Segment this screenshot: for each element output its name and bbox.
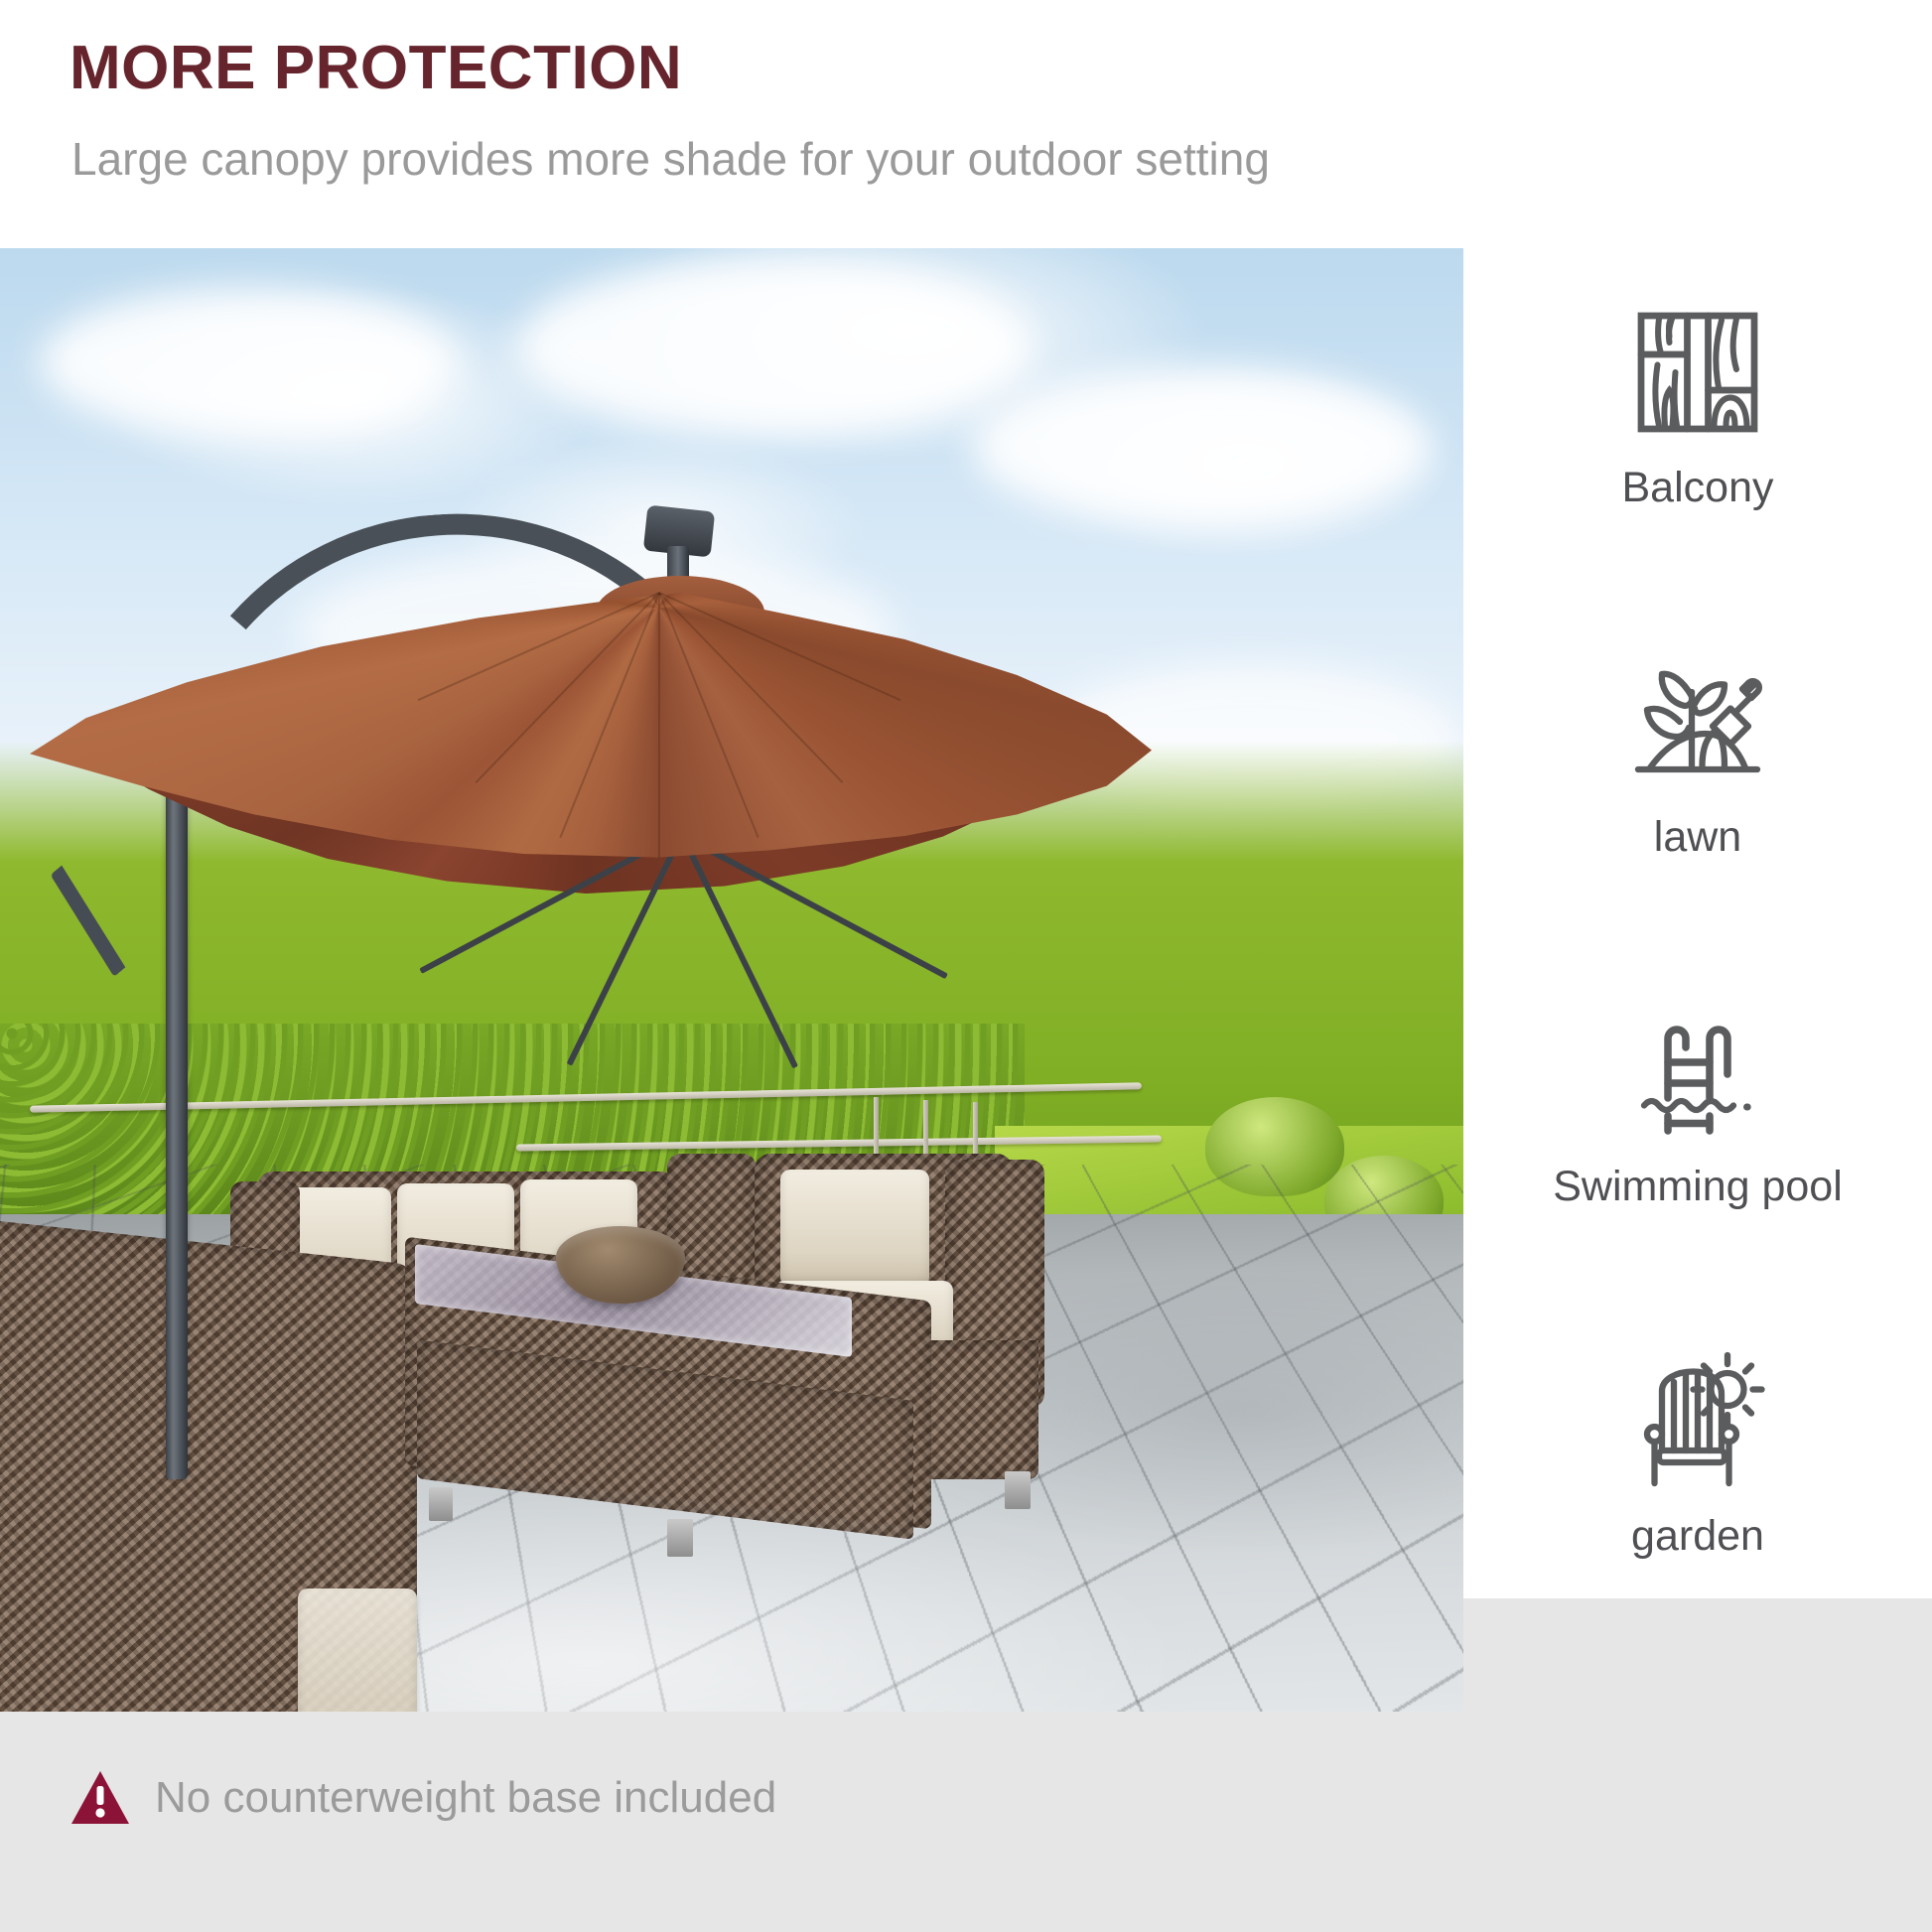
feature-lawn[interactable]: lawn (1463, 647, 1932, 861)
plant-trowel-icon (1463, 647, 1932, 796)
feature-balcony[interactable]: Balcony (1463, 298, 1932, 511)
feature-label: garden (1463, 1513, 1932, 1560)
feature-label: Balcony (1463, 465, 1932, 511)
footer-band-right (1463, 1598, 1932, 1932)
deck-chair-sun-icon (1463, 1346, 1932, 1495)
balcony-icon (1463, 298, 1932, 447)
page-title: MORE PROTECTION (69, 38, 682, 99)
footer-note: No counterweight base included (69, 1769, 776, 1827)
page-subtitle: Large canopy provides more shade for you… (71, 136, 1270, 182)
feature-swimming-pool[interactable]: Swimming pool (1463, 997, 1932, 1210)
armchair-right-back-cushion (780, 1170, 929, 1287)
pool-ladder-icon (1463, 997, 1932, 1146)
feature-garden[interactable]: garden (1463, 1346, 1932, 1560)
product-infographic: MORE PROTECTION Large canopy provides mo… (0, 0, 1932, 1932)
photo-scene (0, 248, 1463, 1712)
umbrella-rib (658, 593, 660, 857)
warning-triangle-icon (69, 1769, 131, 1827)
cloud (40, 288, 457, 437)
cloud (973, 367, 1430, 526)
cloud (516, 258, 1033, 437)
feature-label: Swimming pool (1463, 1164, 1932, 1210)
umbrella-canopy (30, 586, 1152, 943)
product-photo (0, 248, 1463, 1712)
coffee-table-leg (667, 1519, 693, 1557)
feature-label: lawn (1463, 814, 1932, 861)
coffee-table-leg (429, 1487, 453, 1521)
armchair-front-left-cushion (298, 1588, 417, 1712)
footer-note-text: No counterweight base included (155, 1776, 776, 1820)
armchair-right-leg (1005, 1471, 1031, 1509)
